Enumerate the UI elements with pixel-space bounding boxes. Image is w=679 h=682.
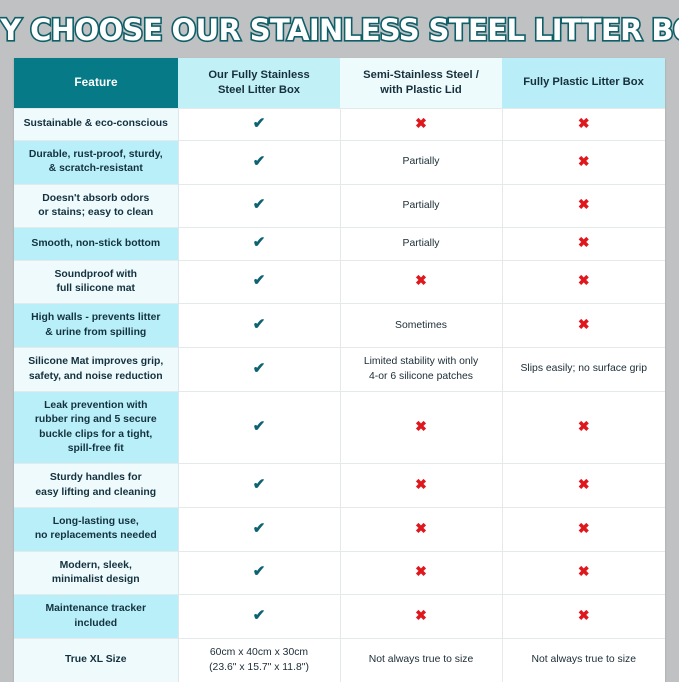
column-header-semi: Semi-Stainless Steel / with Plastic Lid [340, 58, 502, 108]
feature-text-line-3: buckle clips for a tight, [23, 428, 169, 442]
feature-text-line-4: spill-free fit [23, 442, 169, 456]
check-icon: ✔ [253, 235, 266, 250]
ours-cell-line-1: 60cm x 40cm x 30cm [188, 646, 331, 660]
feature-text-line-1: Leak prevention with [23, 399, 169, 413]
semi-cell: Partially [340, 184, 502, 228]
ours-cell: ✔ [178, 508, 340, 552]
check-icon: ✔ [253, 521, 266, 536]
semi-cell: Partially [340, 140, 502, 184]
ours-cell: ✔ [178, 184, 340, 228]
semi-cell: ✖ [340, 391, 502, 463]
table-row: Soundproof withfull silicone mat✔✖✖ [14, 260, 665, 304]
feature-cell: Sustainable & eco-conscious [14, 108, 178, 140]
ours-cell: ✔ [178, 304, 340, 348]
feature-text-line-1: Sustainable & eco-conscious [23, 117, 169, 131]
feature-cell: Soundproof withfull silicone mat [14, 260, 178, 304]
semi-cell: ✖ [340, 260, 502, 304]
ours-cell: ✔ [178, 464, 340, 508]
column-header-plastic-line1: Fully Plastic Litter Box [510, 75, 657, 90]
ours-cell: ✔ [178, 260, 340, 304]
check-icon: ✔ [253, 273, 266, 288]
feature-text-line-1: Long-lasting use, [23, 515, 169, 529]
cross-icon: ✖ [415, 521, 427, 535]
feature-cell: High walls - prevents litter& urine from… [14, 304, 178, 348]
cross-icon: ✖ [578, 608, 590, 622]
cross-icon: ✖ [578, 521, 590, 535]
feature-text-line-2: rubber ring and 5 secure [23, 413, 169, 427]
feature-text-line-1: True XL Size [23, 653, 169, 667]
feature-text-line-2: & scratch-resistant [23, 162, 169, 176]
plastic-cell: ✖ [502, 304, 665, 348]
ours-cell-line-2: (23.6" x 15.7" x 11.8") [188, 661, 331, 675]
check-icon: ✔ [253, 477, 266, 492]
feature-text-line-2: or stains; easy to clean [23, 206, 169, 220]
table-row: Silicone Mat improves grip,safety, and n… [14, 348, 665, 392]
plastic-cell-text: Slips easily; no surface grip [521, 363, 647, 374]
ours-cell: ✔ [178, 391, 340, 463]
comparison-table: Feature Our Fully Stainless Steel Litter… [14, 58, 665, 682]
table-row: Doesn't absorb odorsor stains; easy to c… [14, 184, 665, 228]
cross-icon: ✖ [578, 419, 590, 433]
semi-cell: Sometimes [340, 304, 502, 348]
table-row: Leak prevention withrubber ring and 5 se… [14, 391, 665, 463]
feature-cell: Leak prevention withrubber ring and 5 se… [14, 391, 178, 463]
check-icon: ✔ [253, 154, 266, 169]
table-row: Sturdy handles foreasy lifting and clean… [14, 464, 665, 508]
cross-icon: ✖ [578, 273, 590, 287]
semi-cell-line-1: Limited stability with only [350, 355, 493, 369]
table-row: High walls - prevents litter& urine from… [14, 304, 665, 348]
check-icon: ✔ [253, 317, 266, 332]
semi-cell: ✖ [340, 108, 502, 140]
semi-cell: Partially [340, 228, 502, 260]
semi-cell: ✖ [340, 551, 502, 595]
ours-cell: ✔ [178, 595, 340, 639]
check-icon: ✔ [253, 116, 266, 131]
check-icon: ✔ [253, 419, 266, 434]
feature-cell: Doesn't absorb odorsor stains; easy to c… [14, 184, 178, 228]
feature-cell: Smooth, non-stick bottom [14, 228, 178, 260]
plastic-cell: ✖ [502, 391, 665, 463]
semi-cell: Limited stability with only4-or 6 silico… [340, 348, 502, 392]
plastic-cell: ✖ [502, 595, 665, 639]
cross-icon: ✖ [415, 419, 427, 433]
check-icon: ✔ [253, 608, 266, 623]
column-header-ours: Our Fully Stainless Steel Litter Box [178, 58, 340, 108]
semi-cell-text: Not always true to size [369, 654, 474, 665]
feature-cell: Silicone Mat improves grip,safety, and n… [14, 348, 178, 392]
table-row: Durable, rust-proof, sturdy,& scratch-re… [14, 140, 665, 184]
cross-icon: ✖ [415, 477, 427, 491]
column-header-plastic: Fully Plastic Litter Box [502, 58, 665, 108]
feature-text-line-2: safety, and noise reduction [23, 370, 169, 384]
cross-icon: ✖ [415, 608, 427, 622]
feature-cell: Durable, rust-proof, sturdy,& scratch-re… [14, 140, 178, 184]
cross-icon: ✖ [578, 116, 590, 130]
feature-text-line-1: Sturdy handles for [23, 471, 169, 485]
ours-cell: ✔ [178, 348, 340, 392]
feature-text-line-1: Silicone Mat improves grip, [23, 355, 169, 369]
semi-cell-text: Sometimes [395, 320, 447, 331]
semi-cell-text: Partially [403, 238, 440, 249]
plastic-cell: ✖ [502, 508, 665, 552]
column-header-semi-line2: with Plastic Lid [348, 83, 494, 98]
cross-icon: ✖ [578, 317, 590, 331]
ours-cell: ✔ [178, 551, 340, 595]
feature-text-line-2: no replacements needed [23, 529, 169, 543]
feature-cell: Long-lasting use,no replacements needed [14, 508, 178, 552]
ours-cell: ✔ [178, 228, 340, 260]
feature-text-line-2: easy lifting and cleaning [23, 486, 169, 500]
cross-icon: ✖ [415, 116, 427, 130]
table-row: Sustainable & eco-conscious✔✖✖ [14, 108, 665, 140]
cross-icon: ✖ [578, 197, 590, 211]
semi-cell: ✖ [340, 595, 502, 639]
semi-cell: Not always true to size [340, 639, 502, 682]
feature-cell: True XL Size [14, 639, 178, 682]
plastic-cell-text: Not always true to size [531, 654, 636, 665]
feature-text-line-1: High walls - prevents litter [23, 311, 169, 325]
feature-text-line-1: Durable, rust-proof, sturdy, [23, 148, 169, 162]
plastic-cell: Not always true to size [502, 639, 665, 682]
check-icon: ✔ [253, 564, 266, 579]
feature-text-line-2: minimalist design [23, 573, 169, 587]
table-row: True XL Size60cm x 40cm x 30cm(23.6" x 1… [14, 639, 665, 682]
feature-text-line-2: full silicone mat [23, 282, 169, 296]
plastic-cell: ✖ [502, 551, 665, 595]
cross-icon: ✖ [578, 154, 590, 168]
ours-cell: ✔ [178, 108, 340, 140]
cross-icon: ✖ [578, 235, 590, 249]
cross-icon: ✖ [578, 564, 590, 578]
cross-icon: ✖ [415, 273, 427, 287]
table-row: Maintenance tracker included✔✖✖ [14, 595, 665, 639]
table-row: Long-lasting use,no replacements needed✔… [14, 508, 665, 552]
semi-cell: ✖ [340, 508, 502, 552]
page-title-area: WHY CHOOSE OUR STAINLESS STEEL LITTER BO… [0, 0, 679, 55]
table-row: Modern, sleek,minimalist design✔✖✖ [14, 551, 665, 595]
feature-text-line-1: Smooth, non-stick bottom [23, 237, 169, 251]
feature-text-line-1: Doesn't absorb odors [23, 192, 169, 206]
plastic-cell: ✖ [502, 464, 665, 508]
column-header-ours-line1: Our Fully Stainless [186, 68, 332, 83]
semi-cell-line-2: 4-or 6 silicone patches [350, 370, 493, 384]
column-header-feature: Feature [14, 58, 178, 108]
cross-icon: ✖ [415, 564, 427, 578]
feature-text-line-1: Maintenance tracker included [23, 602, 169, 631]
check-icon: ✔ [253, 361, 266, 376]
comparison-table-container: Feature Our Fully Stainless Steel Litter… [14, 58, 665, 682]
ours-cell: 60cm x 40cm x 30cm(23.6" x 15.7" x 11.8"… [178, 639, 340, 682]
column-header-semi-line1: Semi-Stainless Steel / [348, 68, 494, 83]
comparison-infographic: WHY CHOOSE OUR STAINLESS STEEL LITTER BO… [0, 0, 679, 679]
plastic-cell: ✖ [502, 140, 665, 184]
feature-cell: Modern, sleek,minimalist design [14, 551, 178, 595]
semi-cell: ✖ [340, 464, 502, 508]
feature-cell: Maintenance tracker included [14, 595, 178, 639]
page-title: WHY CHOOSE OUR STAINLESS STEEL LITTER BO… [0, 13, 679, 47]
plastic-cell: ✖ [502, 228, 665, 260]
feature-text-line-1: Modern, sleek, [23, 559, 169, 573]
plastic-cell: Slips easily; no surface grip [502, 348, 665, 392]
plastic-cell: ✖ [502, 184, 665, 228]
table-header-row: Feature Our Fully Stainless Steel Litter… [14, 58, 665, 108]
feature-cell: Sturdy handles foreasy lifting and clean… [14, 464, 178, 508]
feature-text-line-2: & urine from spilling [23, 326, 169, 340]
feature-text-line-1: Soundproof with [23, 268, 169, 282]
table-row: Smooth, non-stick bottom✔Partially✖ [14, 228, 665, 260]
plastic-cell: ✖ [502, 260, 665, 304]
table-header: Feature Our Fully Stainless Steel Litter… [14, 58, 665, 108]
plastic-cell: ✖ [502, 108, 665, 140]
column-header-ours-line2: Steel Litter Box [186, 83, 332, 98]
check-icon: ✔ [253, 197, 266, 212]
table-body: Sustainable & eco-conscious✔✖✖Durable, r… [14, 108, 665, 682]
semi-cell-text: Partially [403, 156, 440, 167]
semi-cell-text: Partially [403, 200, 440, 211]
cross-icon: ✖ [578, 477, 590, 491]
ours-cell: ✔ [178, 140, 340, 184]
